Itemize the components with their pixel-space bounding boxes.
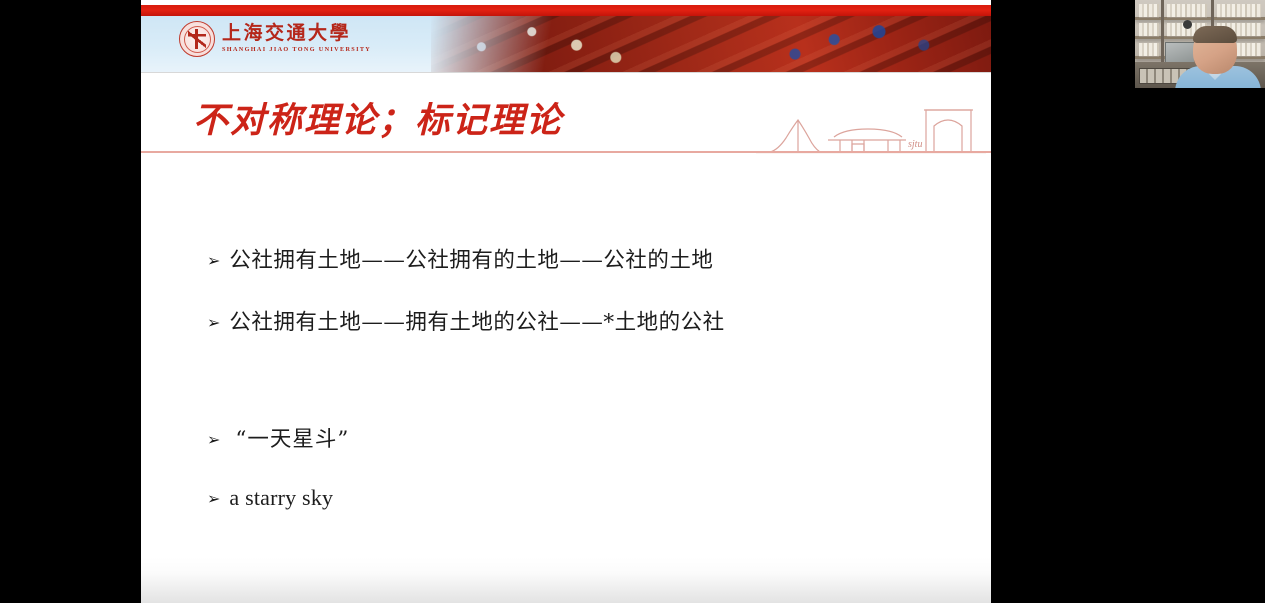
banner-photo-roof-beams — [431, 16, 991, 72]
banner-bottom-divider — [141, 72, 991, 73]
books-row — [1139, 23, 1159, 37]
books-row — [1217, 4, 1261, 18]
slide-body-list: ➢ 公社拥有土地——公社拥有的土地——公社的土地 ➢ 公社拥有土地——拥有土地的… — [207, 230, 967, 511]
bullet-arrow-icon: ➢ — [207, 253, 220, 269]
slide-bottom-gradient — [141, 557, 991, 603]
books-row — [1167, 4, 1207, 18]
university-name-en: SHANGHAI JIAO TONG UNIVERSITY — [222, 47, 371, 53]
presentation-slide[interactable]: 上海交通大學 SHANGHAI JIAO TONG UNIVERSITY 不对称… — [141, 0, 991, 603]
title-underline-rule — [141, 151, 991, 153]
banner-red-bar — [141, 5, 991, 16]
list-item-text: a starry sky — [229, 485, 333, 511]
university-name-cn: 上海交通大學 — [222, 24, 371, 43]
screen-root: 上海交通大學 SHANGHAI JIAO TONG UNIVERSITY 不对称… — [0, 0, 1265, 603]
list-item: ➢ 公社拥有土地——拥有土地的公社——*土地的公社 — [207, 305, 967, 336]
list-item-text: 公社拥有土地——公社拥有的土地——公社的土地 — [229, 243, 713, 274]
list-item: ➢ a starry sky — [207, 485, 967, 511]
bullet-arrow-icon: ➢ — [207, 315, 220, 331]
list-item-text: 公社拥有土地——拥有土地的公社——*土地的公社 — [229, 305, 724, 336]
sjtu-skyline-icon: sjtu — [756, 96, 986, 154]
sjtu-mark-label: sjtu — [908, 139, 922, 150]
list-item: ➢ 公社拥有土地——公社拥有的土地——公社的土地 — [207, 243, 967, 274]
bullet-arrow-icon: ➢ — [207, 491, 220, 507]
university-logo-text: 上海交通大學 SHANGHAI JIAO TONG UNIVERSITY — [222, 24, 371, 53]
list-item-text: “一天星斗” — [229, 422, 349, 453]
presenter-hair — [1193, 26, 1237, 43]
university-seal-icon — [179, 21, 215, 57]
slide-title: 不对称理论；标记理论 — [193, 92, 563, 143]
monitor-object — [1165, 42, 1195, 64]
books-row — [1139, 4, 1159, 18]
presenter-video-thumbnail[interactable] — [1135, 0, 1265, 88]
bullet-arrow-icon: ➢ — [207, 432, 220, 448]
list-item: ➢ “一天星斗” — [207, 422, 967, 453]
wall-clock-icon — [1183, 20, 1192, 29]
books-row — [1139, 43, 1159, 57]
university-logo: 上海交通大學 SHANGHAI JIAO TONG UNIVERSITY — [179, 21, 371, 57]
